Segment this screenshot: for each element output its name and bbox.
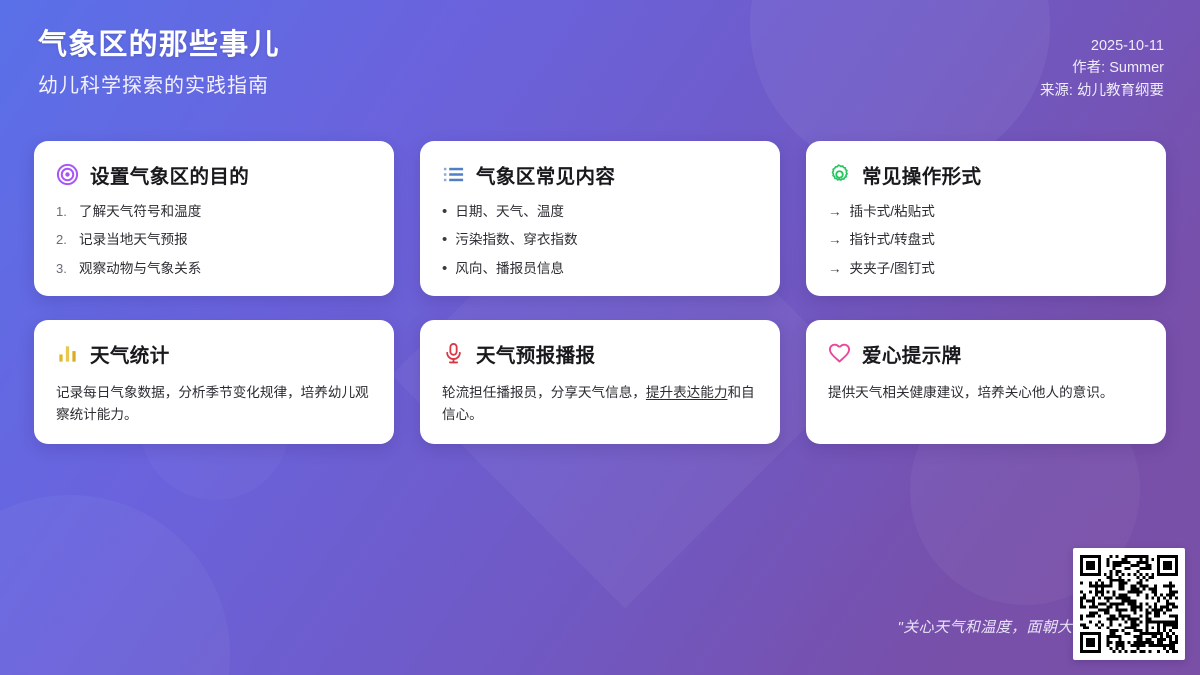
card-purpose[interactable]: 设置气象区的目的 1. 了解天气符号和温度 2. 记录当地天气预报 3. 观察动… [34,141,394,296]
card-header: 设置气象区的目的 [56,160,372,189]
card-header: 天气预报播报 [442,339,758,368]
list-item-label: 观察动物与气象关系 [79,260,372,278]
list-marker: • [442,232,447,247]
list-item-label: 日期、天气、温度 [455,203,758,221]
card-operation-forms[interactable]: 常见操作形式 → 插卡式/粘贴式 → 指针式/转盘式 → 夹夹子/图钉式 [806,141,1166,296]
list-item: • 污染指数、穿衣指数 [442,231,758,249]
list-item: → 指针式/转盘式 [828,231,1144,249]
card-header: 天气统计 [56,339,372,368]
list-item-label: 记录当地天气预报 [79,231,372,249]
list-item-label: 指针式/转盘式 [850,231,1145,249]
card-body: 提供天气相关健康建议，培养关心他人的意识。 [828,382,1144,404]
page-title: 气象区的那些事儿 [38,28,280,63]
list-marker: • [442,204,447,219]
list-marker: → [828,260,842,278]
list-item: • 风向、播报员信息 [442,260,758,278]
card-title: 天气预报播报 [476,339,595,368]
list-item-label: 风向、播报员信息 [455,260,758,278]
card-title: 爱心提示牌 [862,339,962,368]
microphone-icon [442,342,465,365]
footer-quote: "关心天气和温度，面朝大海 [897,616,1088,637]
card-body: 记录每日气象数据，分析季节变化规律，培养幼儿观察统计能力。 [56,382,372,426]
arrow-list: → 插卡式/粘贴式 → 指针式/转盘式 → 夹夹子/图钉式 [828,203,1144,278]
card-care-board[interactable]: 爱心提示牌 提供天气相关健康建议，培养关心他人的意识。 [806,320,1166,444]
card-header: 常见操作形式 [828,160,1144,189]
list-marker: 1. [56,203,71,221]
card-weather-statistics[interactable]: 天气统计 记录每日气象数据，分析季节变化规律，培养幼儿观察统计能力。 [34,320,394,444]
list-item: 2. 记录当地天气预报 [56,231,372,249]
list-item-label: 污染指数、穿衣指数 [455,231,758,249]
list-item: • 日期、天气、温度 [442,203,758,221]
meta-block: 2025-10-11 作者: Summer 来源: 幼儿教育纲要 [1040,28,1164,102]
card-header: 爱心提示牌 [828,339,1144,368]
list-marker: 2. [56,231,71,249]
meta-date: 2025-10-11 [1040,35,1164,57]
card-body: 轮流担任播报员，分享天气信息，提升表达能力和自信心。 [442,382,758,426]
list-item-label: 了解天气符号和温度 [79,203,372,221]
body-text-pre: 轮流担任播报员，分享天气信息， [442,385,646,400]
card-title: 设置气象区的目的 [90,160,249,189]
list-marker: 3. [56,260,71,278]
card-title: 天气统计 [90,339,170,368]
heart-icon [828,342,851,365]
card-title: 常见操作形式 [862,160,981,189]
card-title: 气象区常见内容 [476,160,615,189]
decorative-circle-bottom-left [0,495,230,675]
list-item-label: 夹夹子/图钉式 [850,260,1145,278]
bar-chart-icon [56,342,79,365]
list-item: → 夹夹子/图钉式 [828,260,1144,278]
body-text-highlight: 提升表达能力 [646,385,728,400]
list-marker: → [828,231,842,249]
meta-author: 作者: Summer [1040,57,1164,79]
list-marker: • [442,261,447,276]
qr-code-image [1080,555,1178,653]
gear-icon [828,163,851,186]
meta-source: 来源: 幼儿教育纲要 [1040,80,1164,102]
list-item: 1. 了解天气符号和温度 [56,203,372,221]
list-item-label: 插卡式/粘贴式 [850,203,1145,221]
title-block: 气象区的那些事儿 幼儿科学探索的实践指南 [38,28,280,99]
qr-code[interactable] [1073,548,1185,660]
list-icon [442,163,465,186]
target-icon [56,163,79,186]
card-header: 气象区常见内容 [442,160,758,189]
bullet-list: • 日期、天气、温度 • 污染指数、穿衣指数 • 风向、播报员信息 [442,203,758,278]
card-weather-broadcast[interactable]: 天气预报播报 轮流担任播报员，分享天气信息，提升表达能力和自信心。 [420,320,780,444]
list-marker: → [828,203,842,221]
list-item: 3. 观察动物与气象关系 [56,260,372,278]
slide-header: 气象区的那些事儿 幼儿科学探索的实践指南 2025-10-11 作者: Summ… [0,0,1200,102]
list-item: → 插卡式/粘贴式 [828,203,1144,221]
card-grid: 设置气象区的目的 1. 了解天气符号和温度 2. 记录当地天气预报 3. 观察动… [34,141,1166,444]
slide-root: 气象区的那些事儿 幼儿科学探索的实践指南 2025-10-11 作者: Summ… [0,0,1200,675]
card-common-content[interactable]: 气象区常见内容 • 日期、天气、温度 • 污染指数、穿衣指数 • 风向、播报员信… [420,141,780,296]
numbered-list: 1. 了解天气符号和温度 2. 记录当地天气预报 3. 观察动物与气象关系 [56,203,372,278]
page-subtitle: 幼儿科学探索的实践指南 [38,74,280,98]
